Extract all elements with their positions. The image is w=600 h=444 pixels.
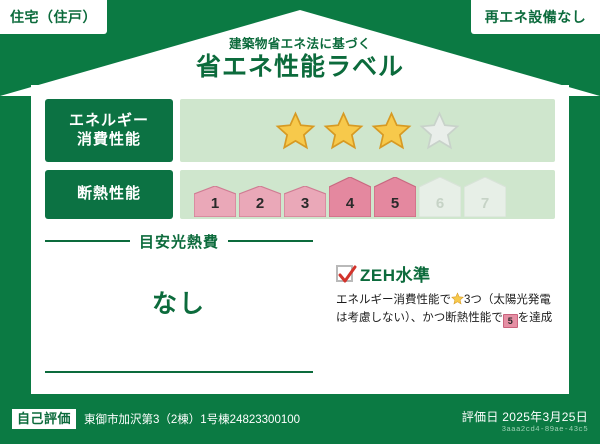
row-insulation-label: 断熱性能 — [45, 170, 173, 219]
insulation-grade-5: 5 — [374, 177, 416, 217]
utility-cost-divider-bottom — [45, 371, 313, 373]
property-address: 東御市加沢第3（2棟）1号棟24823300100 — [84, 411, 300, 427]
insulation-grade-3-label: 3 — [301, 195, 309, 217]
insulation-grade-4: 4 — [329, 177, 371, 217]
check-icon — [337, 264, 358, 286]
zeh-checkbox[interactable] — [336, 265, 353, 282]
insulation-grade-3: 3 — [284, 186, 326, 217]
title-subtitle: 建築物省エネ法に基づく — [0, 38, 600, 52]
evaluation-date-value: 2025年3月25日 — [502, 410, 588, 424]
row-insulation-label-line1: 断熱性能 — [77, 185, 141, 203]
insulation-grade-4-label: 4 — [346, 195, 354, 217]
evaluation-date: 評価日 2025年3月25日 — [462, 408, 588, 425]
tag-building-type: 住宅（住戸） — [0, 0, 107, 34]
utility-cost-value: なし — [45, 284, 313, 320]
row-insulation-performance: 断熱性能 1 2 — [45, 170, 555, 219]
zeh-block: ZEH水準 エネルギー消費性能で3つ（太陽光発電は考慮しない）、かつ断熱性能で5… — [336, 261, 558, 328]
star-icon-filled-3 — [370, 110, 413, 151]
star-icon-filled-1 — [274, 110, 317, 151]
zeh-title: ZEH水準 — [360, 261, 431, 286]
insulation-grade-7-label: 7 — [481, 195, 489, 217]
title-block: 建築物省エネ法に基づく 省エネ性能ラベル — [0, 38, 600, 81]
insulation-grade-scale: 1 2 3 — [194, 173, 506, 217]
star-rating — [274, 110, 461, 151]
star-icon-inline — [451, 292, 464, 305]
utility-cost-title: 目安光熱費 — [130, 231, 228, 252]
insulation-grade-7: 7 — [464, 177, 506, 217]
row-insulation-value: 1 2 3 — [180, 170, 555, 219]
star-icon-empty-4 — [418, 110, 461, 151]
zeh-desc-part1: エネルギー消費性能で — [336, 294, 451, 306]
zeh-desc-grade-badge: 5 — [503, 314, 518, 328]
star-icon-filled-2 — [322, 110, 365, 151]
insulation-grade-2: 2 — [239, 186, 281, 217]
row-energy-label: エネルギー 消費性能 — [45, 99, 173, 162]
energy-performance-label: 住宅（住戸） 再エネ設備なし 建築物省エネ法に基づく 省エネ性能ラベル エネルギ… — [0, 0, 600, 444]
evaluation-date-label: 評価日 — [462, 410, 499, 424]
utility-cost-block: 目安光熱費 なし — [45, 231, 313, 379]
tag-building-type-label: 住宅（住戸） — [10, 7, 97, 27]
insulation-grade-1-label: 1 — [211, 195, 219, 217]
utility-cost-header: 目安光熱費 — [45, 231, 313, 249]
insulation-grade-2-label: 2 — [256, 195, 264, 217]
zeh-header: ZEH水準 — [336, 261, 558, 286]
insulation-grade-6: 6 — [419, 177, 461, 217]
row-energy-performance: エネルギー 消費性能 — [45, 99, 555, 162]
main-panel: エネルギー 消費性能 — [31, 85, 569, 394]
insulation-grade-6-label: 6 — [436, 195, 444, 217]
row-energy-label-line1: エネルギー — [69, 112, 149, 130]
row-energy-value — [180, 99, 555, 162]
document-id: 3aaa2cd4-89ae-43c5 — [502, 426, 588, 434]
tag-renewable-equipment: 再エネ設備なし — [471, 0, 600, 34]
self-evaluation-badge: 自己評価 — [12, 409, 76, 429]
tag-renewable-equipment-label: 再エネ設備なし — [485, 7, 587, 27]
insulation-grade-1: 1 — [194, 186, 236, 217]
footer: 自己評価 東御市加沢第3（2棟）1号棟24823300100 評価日 2025年… — [0, 398, 600, 444]
page-title: 省エネ性能ラベル — [0, 54, 600, 82]
zeh-desc-part3: を達成 — [518, 312, 553, 324]
insulation-grade-5-label: 5 — [391, 195, 399, 217]
zeh-description: エネルギー消費性能で3つ（太陽光発電は考慮しない）、かつ断熱性能で5を達成 — [336, 292, 558, 328]
row-energy-label-line2: 消費性能 — [77, 131, 141, 149]
